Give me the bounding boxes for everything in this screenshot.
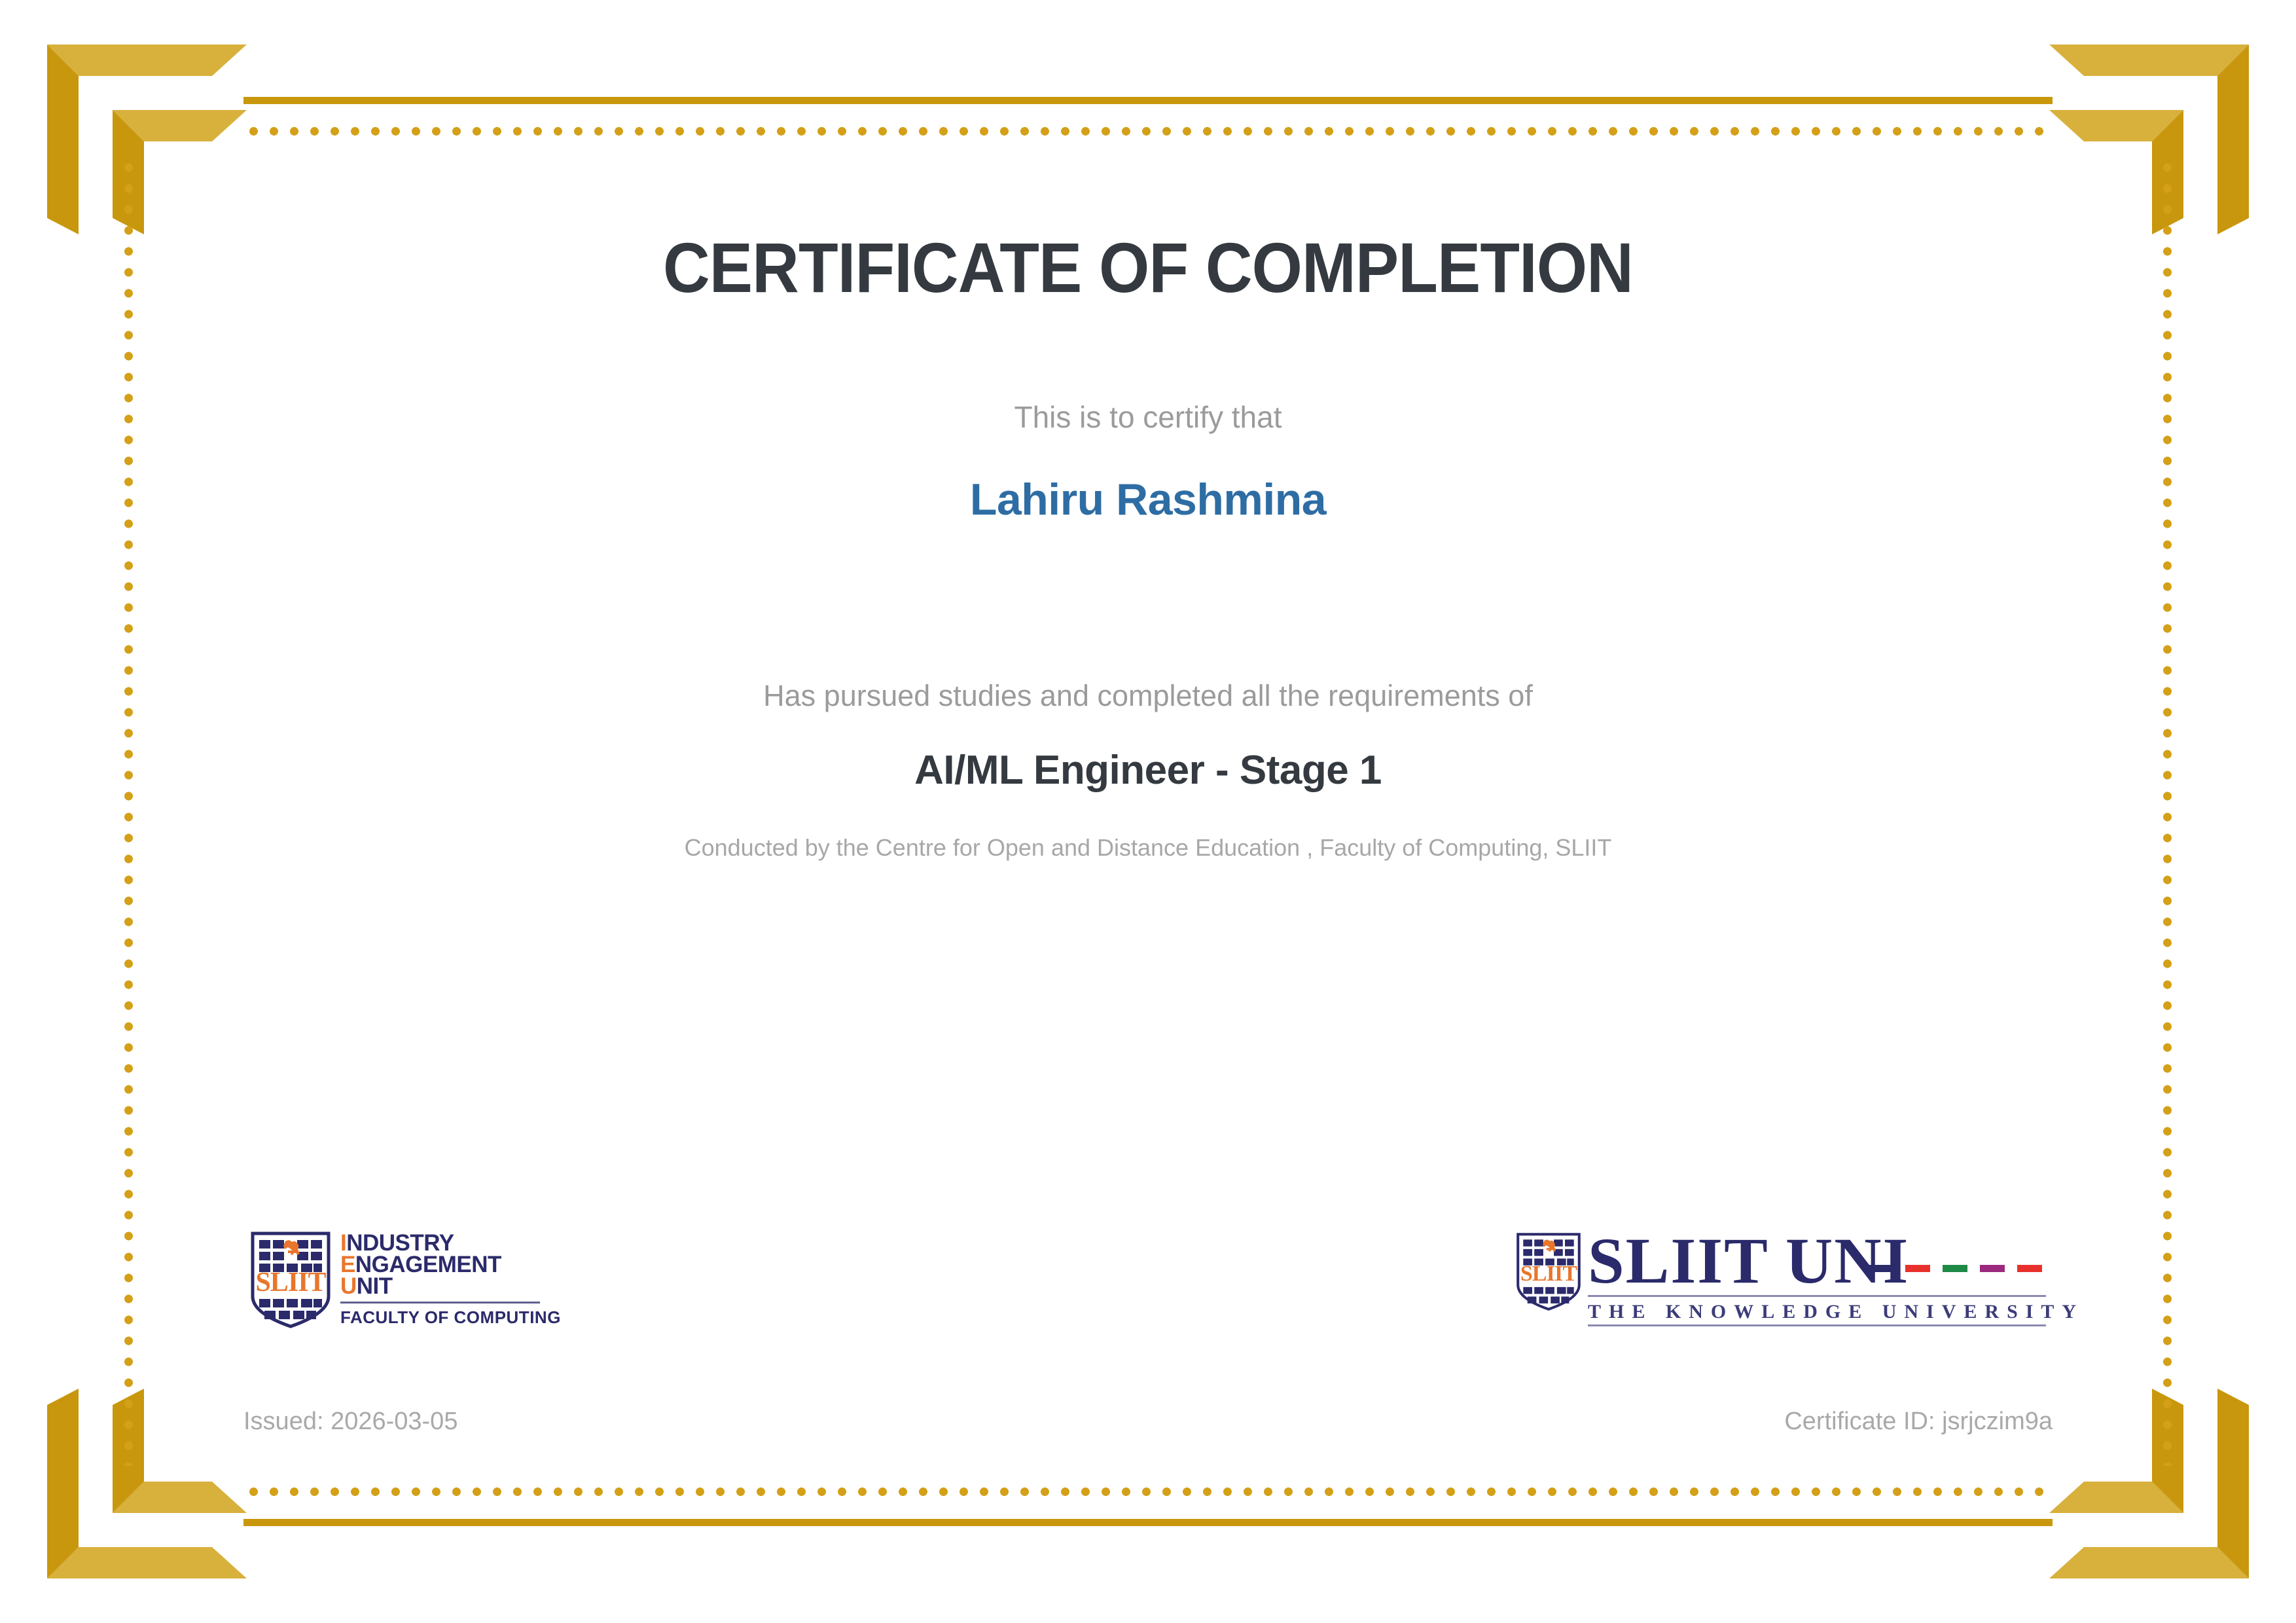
- uni-dash-1: [1868, 1265, 1893, 1272]
- uni-tagline: THE KNOWLEDGE UNIVERSITY: [1588, 1297, 2046, 1324]
- shield-wordmark: SLIIT: [255, 1267, 326, 1298]
- sliit-shield-icon: SLIIT: [250, 1231, 331, 1329]
- border-rule-top-dotted: [243, 127, 2053, 136]
- uni-dash-3: [1943, 1265, 1967, 1272]
- ieu-line-unit: UNIT: [340, 1275, 561, 1297]
- logo-sliit-uni: SLIIT SLIIT UNI THE KNOWLEDGE UNIVERSITY: [1516, 1231, 2046, 1326]
- course-name: AI/ML Engineer - Stage 1: [151, 747, 2145, 793]
- logo-row: SLIIT INDUSTRY ENGAGEMENT UNIT FACULTY O…: [243, 1231, 2053, 1349]
- uni-dash-2: [1905, 1265, 1930, 1272]
- uni-color-dashes: [1868, 1265, 2042, 1272]
- conducted-by-statement: Conducted by the Centre for Open and Dis…: [151, 834, 2145, 862]
- uni-wordmark: SLIIT UNI: [1588, 1224, 1909, 1297]
- ieu-line-industry: INDUSTRY: [340, 1232, 561, 1254]
- uni-wordmark-container: SLIIT UNI: [1588, 1231, 2046, 1291]
- certificate-body: CERTIFICATE OF COMPLETION This is to cer…: [151, 196, 2145, 862]
- border-rule-right-dotted: [2163, 157, 2172, 1466]
- corner-ornament-bottom-right-icon: [2049, 1389, 2249, 1578]
- corner-ornament-bottom-left-icon: [47, 1389, 247, 1578]
- uni-text-block: SLIIT UNI THE KNOWLEDGE UNIVERSITY: [1588, 1231, 2046, 1326]
- border-rule-left-dotted: [124, 157, 133, 1466]
- ieu-accent-u: U: [340, 1273, 357, 1299]
- uni-dash-4: [1980, 1265, 2005, 1272]
- issued-date: Issued: 2026-03-05: [243, 1408, 457, 1436]
- certificate-document: CERTIFICATE OF COMPLETION This is to cer…: [0, 0, 2296, 1623]
- certificate-id: Certificate ID: jsrjczim9a: [1784, 1408, 2053, 1436]
- ieu-line-engagement: ENGAGEMENT: [340, 1254, 561, 1275]
- shield-wordmark: SLIIT: [1520, 1262, 1578, 1286]
- requirements-statement: Has pursued studies and completed all th…: [151, 679, 2145, 713]
- ieu-rest-unit: NIT: [357, 1273, 393, 1299]
- ieu-faculty-subtitle: FACULTY OF COMPUTING: [340, 1307, 561, 1328]
- uni-dash-5: [2017, 1265, 2042, 1272]
- certificate-title: CERTIFICATE OF COMPLETION: [230, 230, 2066, 304]
- certificate-footer: Issued: 2026-03-05 Certificate ID: jsrjc…: [243, 1408, 2053, 1436]
- ieu-divider: [340, 1302, 540, 1304]
- uni-rule-bottom: [1588, 1324, 2046, 1326]
- border-rule-bottom-dotted: [243, 1487, 2053, 1496]
- ieu-text-block: INDUSTRY ENGAGEMENT UNIT FACULTY OF COMP…: [340, 1232, 561, 1328]
- border-rule-top-solid: [243, 97, 2053, 104]
- sliit-uni-shield-icon: SLIIT: [1516, 1231, 1581, 1313]
- recipient-name: Lahiru Rashmina: [151, 474, 2145, 525]
- certify-statement: This is to certify that: [151, 399, 2145, 435]
- border-rule-bottom-solid: [243, 1519, 2053, 1526]
- logo-industry-engagement-unit: SLIIT INDUSTRY ENGAGEMENT UNIT FACULTY O…: [250, 1231, 561, 1329]
